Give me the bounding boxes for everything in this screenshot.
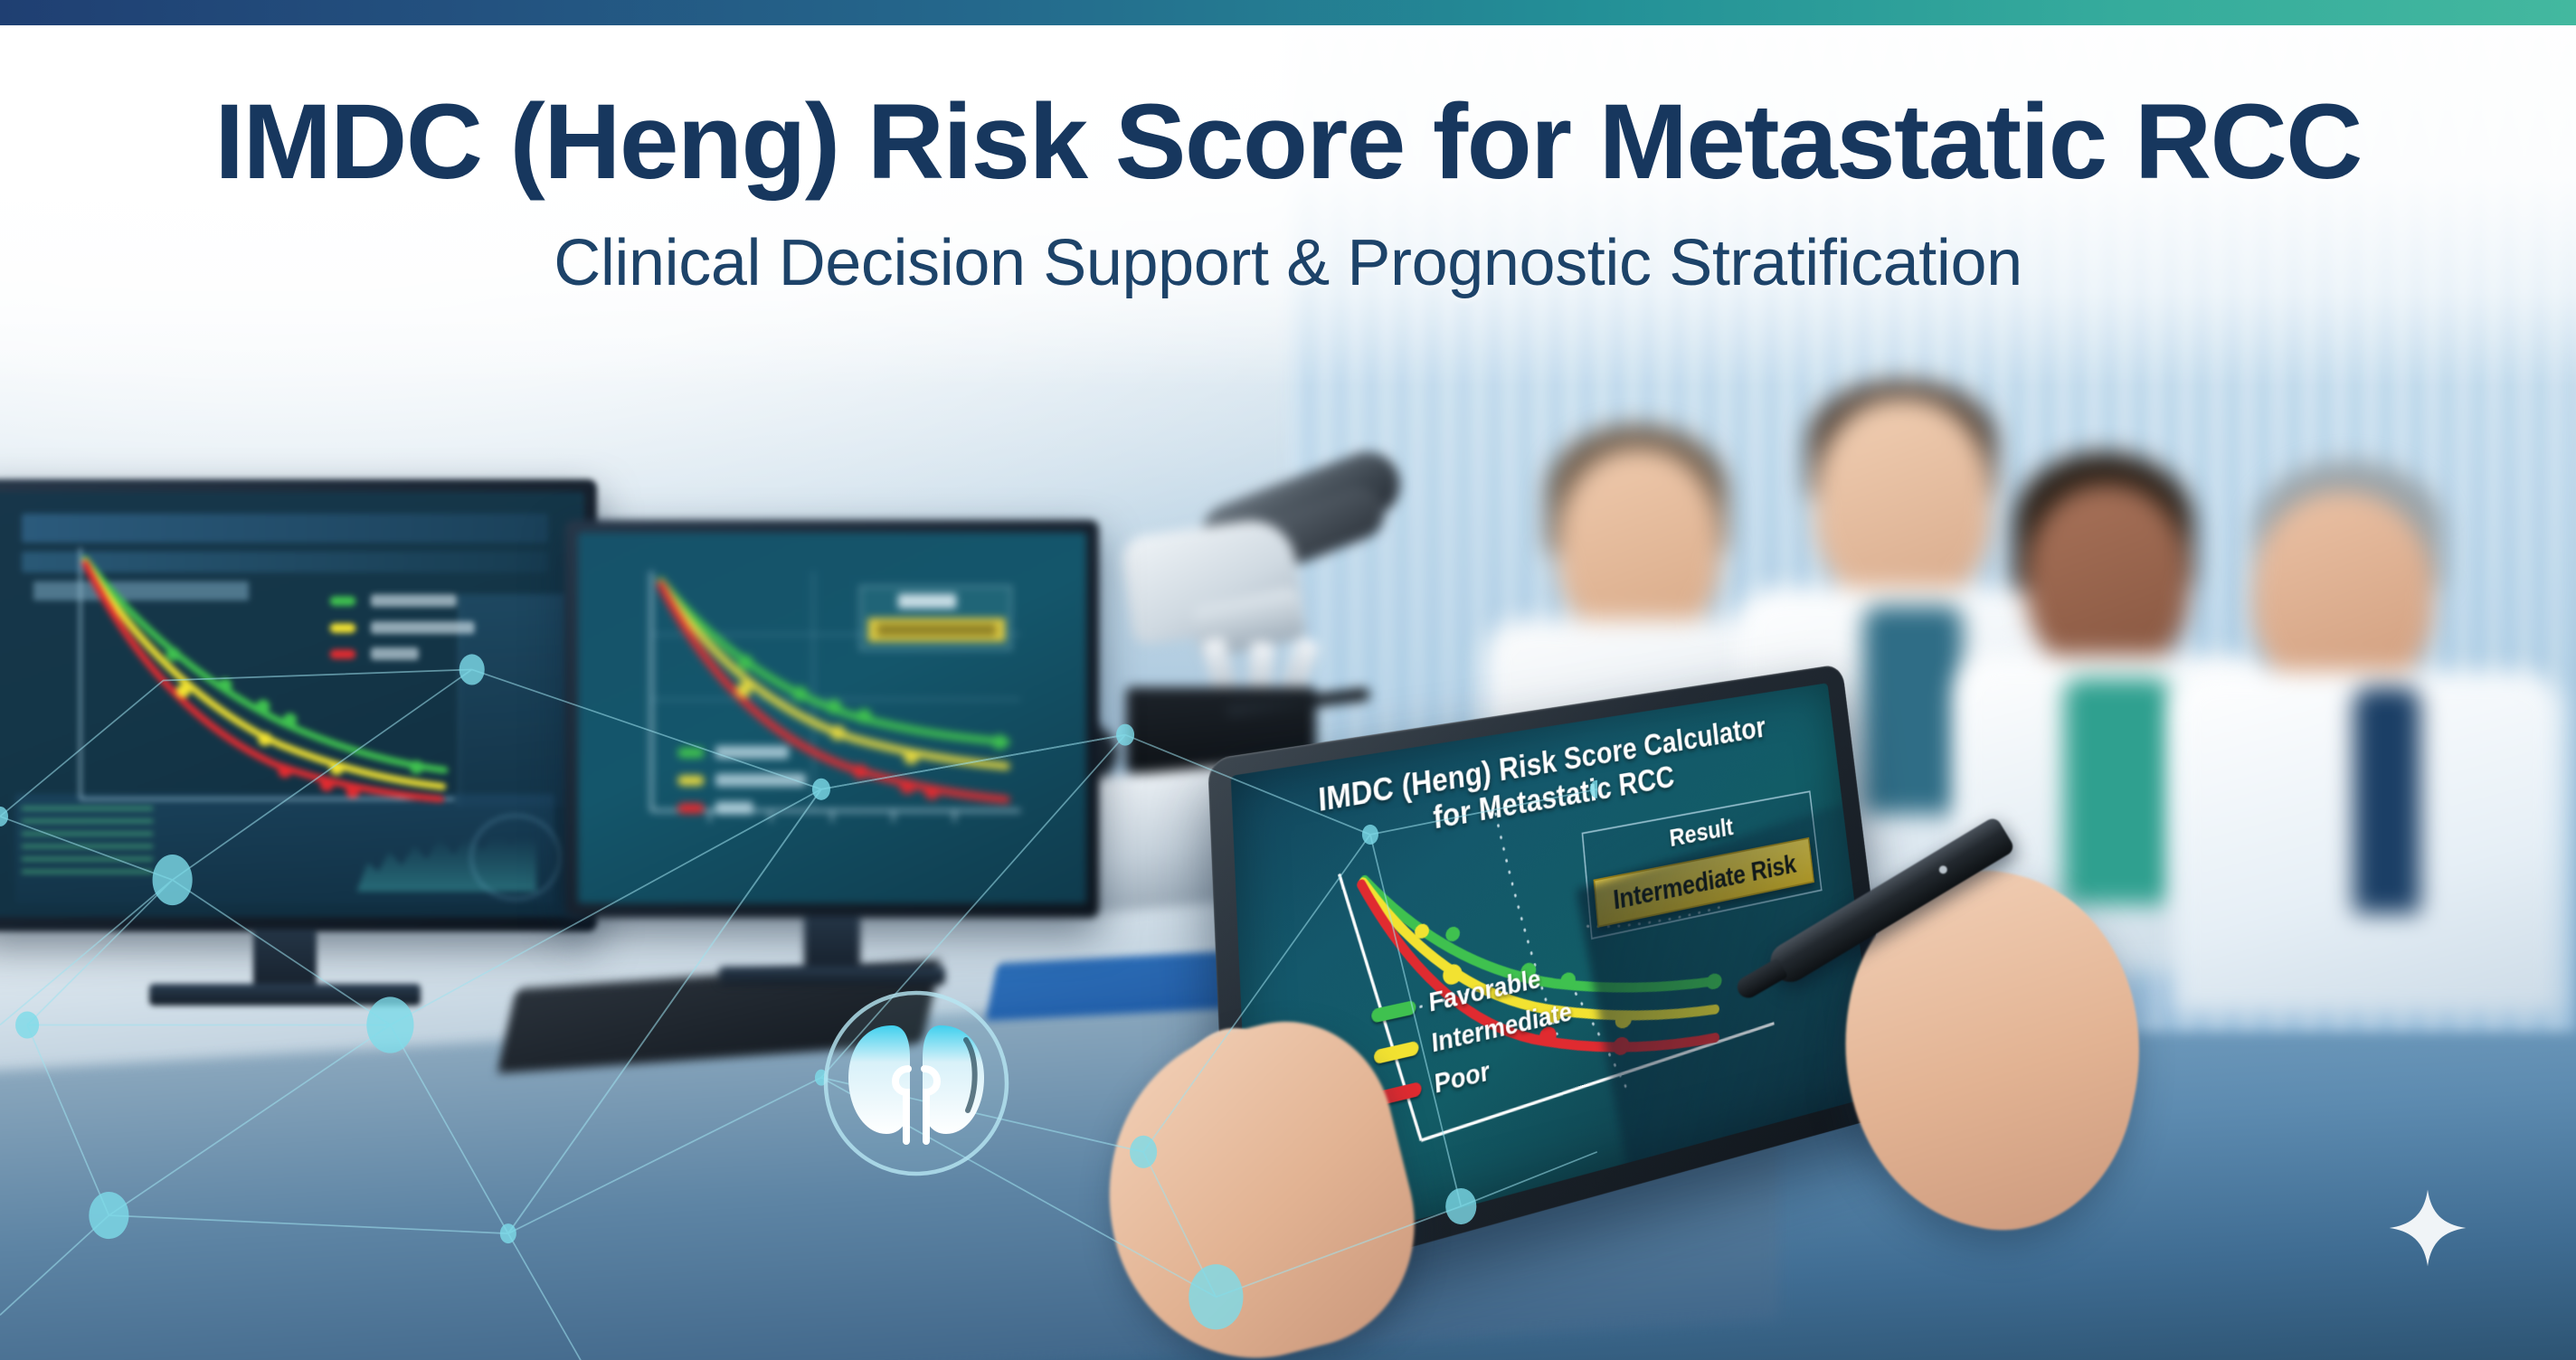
legend-swatch-favorable	[1371, 999, 1416, 1023]
tablet-device[interactable]: IMDC (Heng) Risk Score Calculator for Me…	[1207, 760, 2121, 1338]
monitor-center	[565, 520, 1099, 918]
page-title: IMDC (Heng) Risk Score for Metastatic RC…	[0, 25, 2576, 195]
person-doctor-4	[2198, 461, 2560, 1004]
sparkle-icon	[2386, 1186, 2469, 1270]
header: IMDC (Heng) Risk Score for Metastatic RC…	[0, 25, 2576, 300]
kidneys-icon	[812, 982, 1020, 1190]
survival-chart-monitor-center	[578, 533, 1086, 903]
legend-label-poor: Poor	[1434, 1056, 1491, 1100]
top-gradient-bar	[0, 0, 2576, 25]
legend-swatch-intermediate	[1374, 1040, 1419, 1064]
monitor-left	[0, 479, 597, 931]
page-subtitle: Clinical Decision Support & Prognostic S…	[0, 226, 2576, 300]
banner-canvas: IMDC (Heng) Risk Score Calculator for Me…	[0, 0, 2576, 1360]
survival-chart-monitor-left	[0, 492, 584, 917]
